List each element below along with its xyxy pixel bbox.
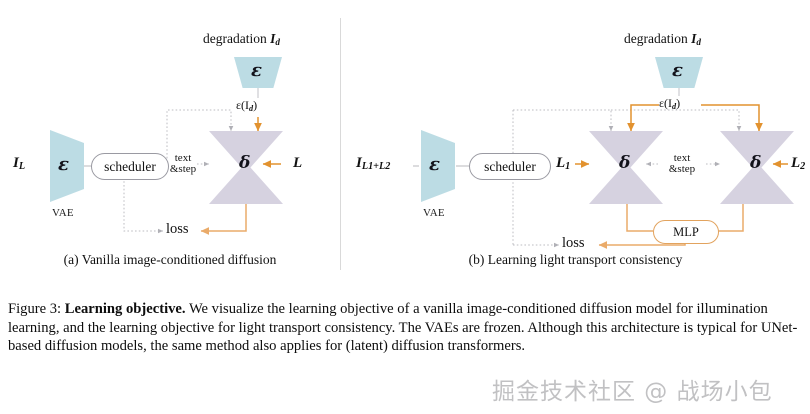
unet-symbol-left-b: δ xyxy=(619,155,630,173)
vae-caption-b: VAE xyxy=(423,208,445,220)
degradation-encoder-symbol-a: ε xyxy=(251,62,262,81)
wire-unet2-to-mlp-b xyxy=(717,204,743,231)
panel-b-light-transport: degradation Id ε ε(Id) IL1+L2 ε VAE sche… xyxy=(341,0,810,292)
wire-unet1-to-mlp-b xyxy=(627,204,653,231)
input-label-a: IL xyxy=(13,156,25,173)
wire-scheduler-to-unet2-top-b xyxy=(611,110,739,131)
figure-3-root: degradation Id ε ε(Id) IL ε VAE schedule… xyxy=(0,0,810,414)
text-step-label-a: text&step xyxy=(167,153,199,175)
latent-left-label-b: L1 xyxy=(556,156,570,173)
scheduler-box-b[interactable]: scheduler xyxy=(469,153,551,180)
mlp-box-b[interactable]: MLP xyxy=(653,220,719,244)
degradation-title-a: degradation Id xyxy=(203,32,280,48)
panel-a-caption: (a) Vanilla image-conditioned diffusion xyxy=(0,252,340,268)
vae-caption-a: VAE xyxy=(52,208,74,220)
encoded-degradation-label-b: ε(Id) xyxy=(659,97,680,111)
vae-symbol-b: ε xyxy=(429,156,440,175)
input-label-b: IL1+L2 xyxy=(356,156,390,173)
figure-caption: Figure 3: Learning objective. We visuali… xyxy=(8,300,802,356)
loss-label-a: loss xyxy=(166,222,189,237)
panel-b-caption: (b) Learning light transport consistency xyxy=(341,252,810,268)
unet-symbol-right-b: δ xyxy=(750,155,761,173)
figure-caption-label: Figure 3: xyxy=(8,301,61,317)
loss-label-b: loss xyxy=(562,236,585,251)
vae-symbol-a: ε xyxy=(58,156,69,175)
wire-unet-to-loss xyxy=(201,204,246,231)
degradation-encoder-symbol-b: ε xyxy=(672,62,683,81)
target-label-a: L xyxy=(293,156,302,172)
unet-symbol-a: δ xyxy=(239,155,250,173)
text-step-label-b: text&step xyxy=(666,153,698,175)
figure-caption-bold: Learning objective. xyxy=(65,301,186,317)
scheduler-box-a[interactable]: scheduler xyxy=(91,153,169,180)
panel-a-vanilla-diffusion: degradation Id ε ε(Id) IL ε VAE schedule… xyxy=(0,0,340,292)
latent-right-label-b: L2 xyxy=(791,156,805,173)
diagram-area: degradation Id ε ε(Id) IL ε VAE schedule… xyxy=(0,0,810,292)
degradation-title-b: degradation Id xyxy=(624,32,701,48)
encoded-degradation-label-a: ε(Id) xyxy=(236,99,257,113)
wire-scheduler-to-unet1-top-b xyxy=(513,110,611,131)
wire-epsid-to-unet2-b xyxy=(701,105,759,131)
watermark-text: 掘金技术社区 @ 战场小包 xyxy=(492,372,773,406)
wire-epsid-to-unet1-b xyxy=(631,105,659,131)
